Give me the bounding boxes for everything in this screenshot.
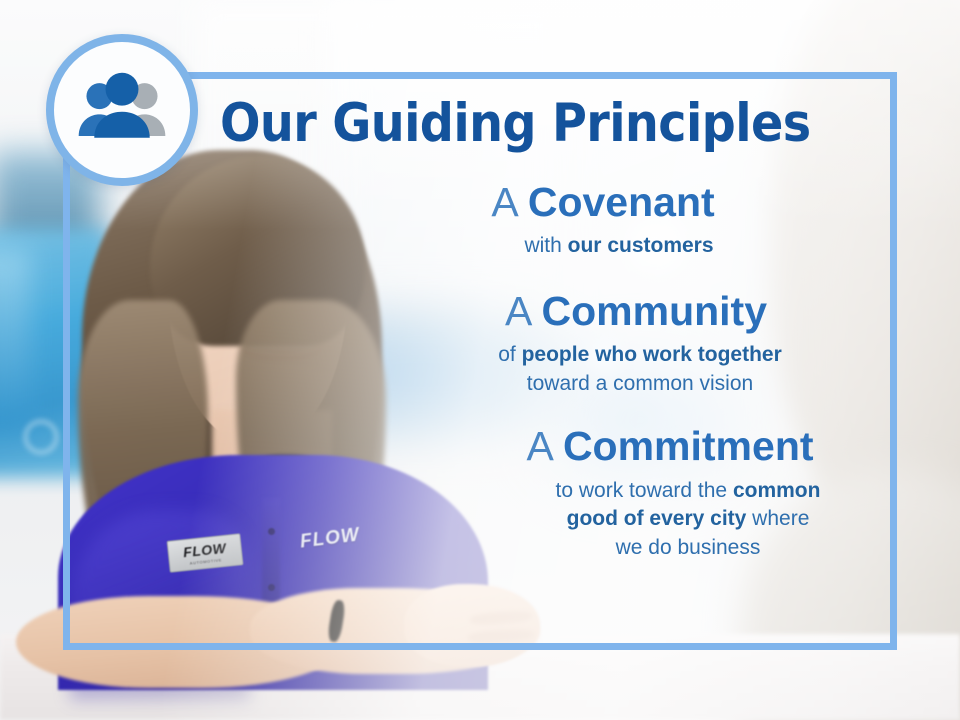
principle-commitment-article: A (526, 423, 551, 469)
principle-community-body: of people who work together toward a com… (400, 341, 880, 398)
principle-community-word: Community (542, 288, 768, 334)
principle-community-body-line2: toward a common vision (527, 372, 753, 395)
guiding-principles-graphic: FLOW AUTOMOTIVE FLOW Our Guiding Princip… (0, 0, 960, 720)
principle-community-body-lead: of (498, 343, 521, 366)
principle-covenant-body-bold: our customers (568, 234, 714, 257)
principle-covenant-body: with our customers (358, 232, 880, 261)
principles-list: A Covenant with our customers A Communit… (300, 178, 880, 564)
people-group-icon (70, 58, 174, 162)
principle-commitment-body-bold-a: common (733, 479, 821, 502)
principle-covenant-word: Covenant (528, 179, 715, 225)
principle-community-body-bold: people who work together (522, 343, 782, 366)
principle-commitment-body-tail: where (746, 507, 809, 530)
principle-commitment-body-lead: to work toward the (556, 479, 733, 502)
principle-community-article: A (505, 288, 530, 334)
principle-commitment: A Commitment to work toward the common g… (300, 422, 880, 562)
principle-community-title: A Community (392, 287, 880, 335)
principle-covenant: A Covenant with our customers (300, 178, 880, 261)
principle-commitment-title: A Commitment (460, 422, 880, 470)
principle-covenant-title: A Covenant (326, 178, 880, 226)
page-title: Our Guiding Principles (220, 93, 880, 154)
principle-commitment-body-line2: we do business (616, 536, 761, 559)
principle-covenant-article: A (491, 179, 516, 225)
principle-commitment-body-bold-b: good of every city (567, 507, 747, 530)
principle-commitment-word: Commitment (563, 423, 814, 469)
principle-covenant-body-lead: with (524, 234, 567, 257)
principle-commitment-body: to work toward the common good of every … (496, 477, 880, 563)
people-icon-badge (46, 34, 198, 186)
principle-community: A Community of people who work together … (300, 287, 880, 398)
